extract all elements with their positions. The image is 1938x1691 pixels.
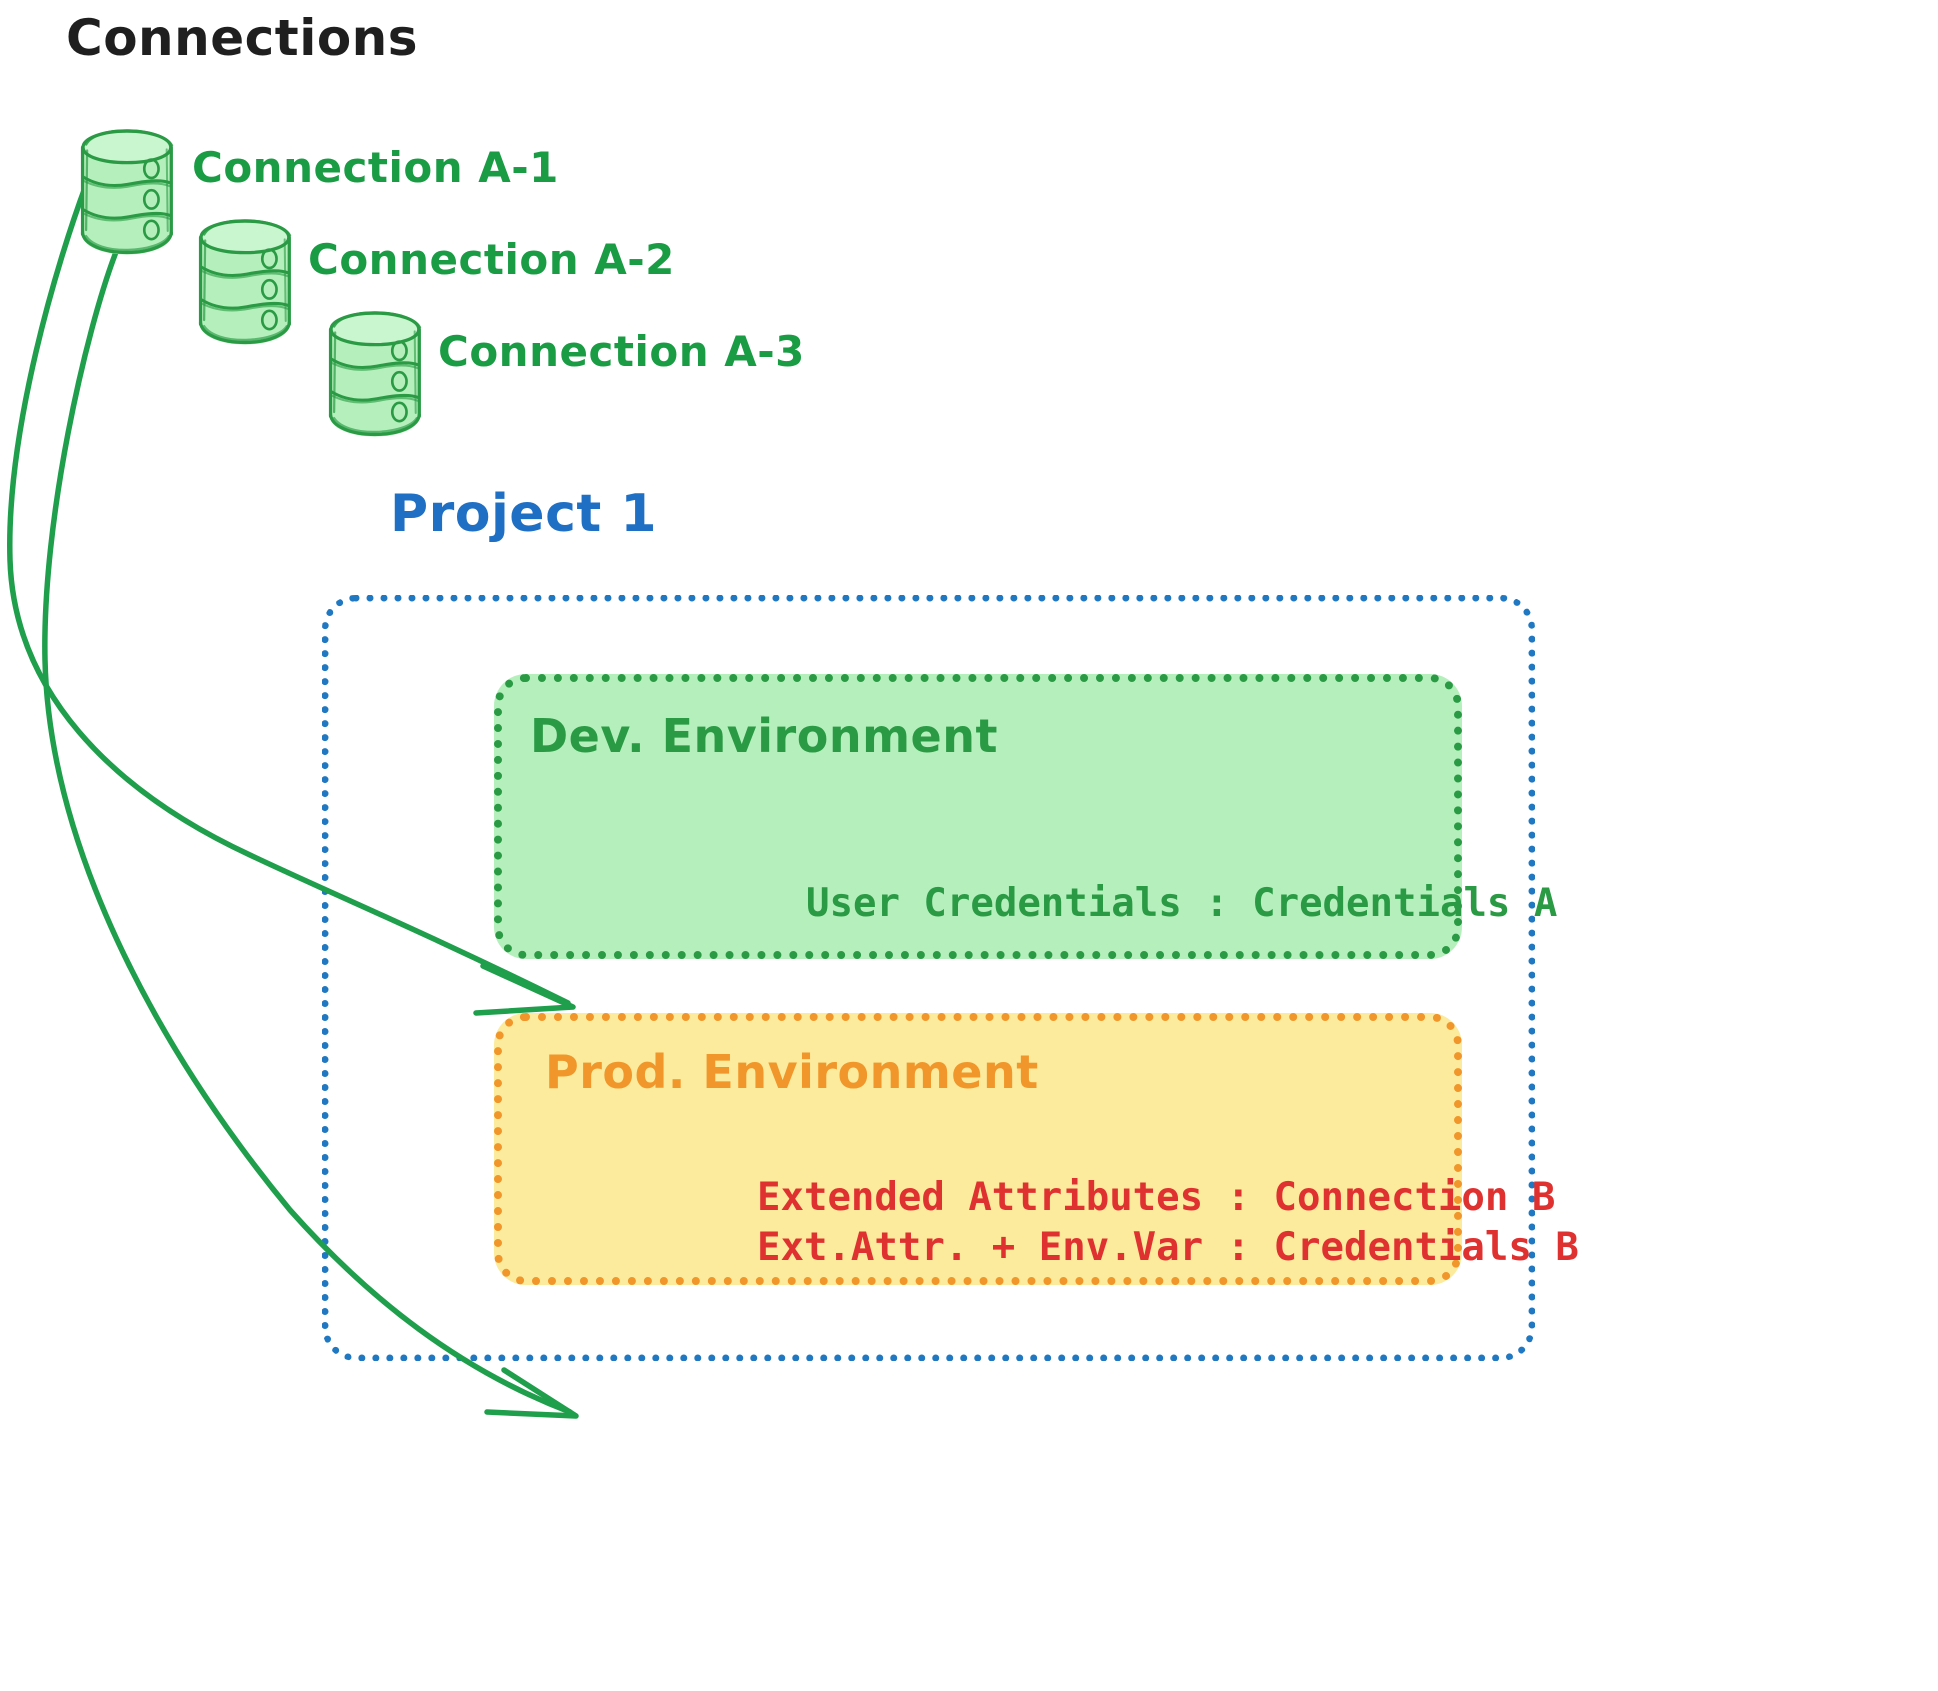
database-icon-connection-a-2: [200, 221, 290, 345]
dev-credentials-line: User Credentials : Credentials A: [806, 884, 1557, 925]
prod-ext-attr-env-var-line: Ext.Attr. + Env.Var : Credentials B: [757, 1228, 1579, 1269]
connection-label-a-2: Connection A-2: [308, 238, 675, 282]
database-icon-connection-a-1: [82, 131, 172, 255]
dev-environment-label: Dev. Environment: [530, 712, 998, 760]
database-icon-connection-a-3: [330, 313, 420, 437]
prod-environment-label: Prod. Environment: [545, 1048, 1039, 1096]
prod-extended-attributes-line: Extended Attributes : Connection B: [757, 1178, 1555, 1219]
page-title: Connections: [66, 12, 418, 65]
project-title: Project 1: [390, 487, 657, 542]
connection-label-a-3: Connection A-3: [438, 330, 805, 374]
diagram-canvas: Connections Connection A-1 Connection A-…: [0, 0, 1938, 1691]
connection-label-a-1: Connection A-1: [192, 146, 559, 190]
